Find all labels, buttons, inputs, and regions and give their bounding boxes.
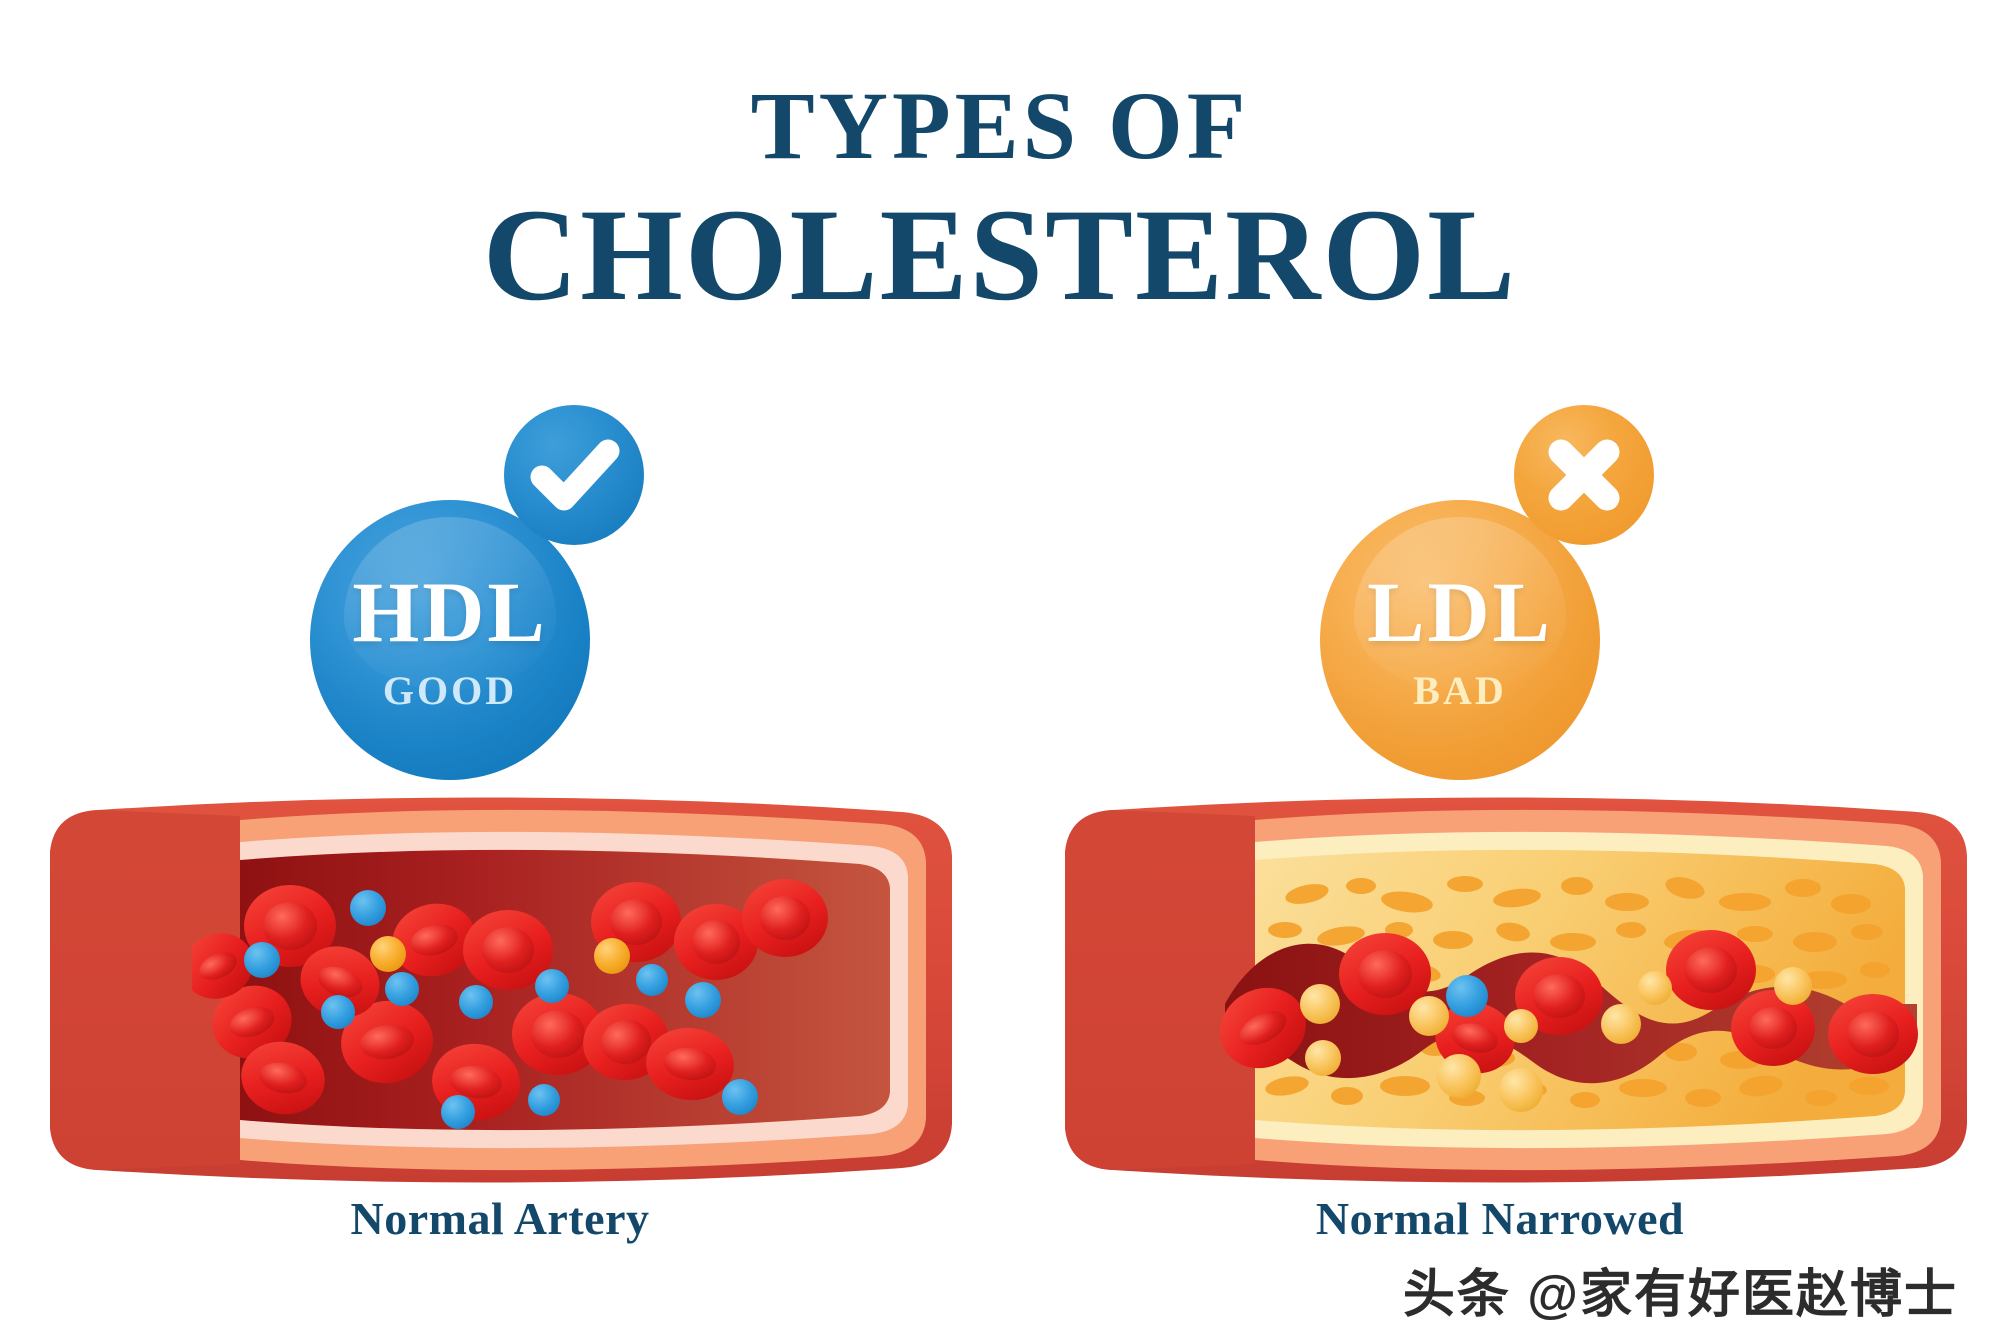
hdl-particle [244, 942, 280, 978]
check-icon [504, 405, 644, 545]
ldl-acronym: LDL [1367, 569, 1553, 655]
ldl-particle [1499, 1068, 1543, 1112]
ldl-particle [1601, 1004, 1641, 1044]
red-blood-cell [1666, 930, 1756, 1010]
ldl-particle [1774, 967, 1812, 1005]
hdl-particle [385, 972, 419, 1006]
ldl-particle [370, 936, 406, 972]
hdl-particle [528, 1084, 560, 1116]
hdl-particle [1446, 975, 1488, 1017]
ldl-particle [1437, 1054, 1481, 1098]
ldl-particle [594, 938, 630, 974]
ldl-particle [1300, 984, 1340, 1024]
title-line-2: CHOLESTEROL [0, 186, 2000, 325]
illustration-normal-artery [40, 790, 960, 1195]
hdl-particle [685, 982, 721, 1018]
hdl-particle [722, 1079, 758, 1115]
illustration-narrowed-artery [1055, 790, 1975, 1195]
hdl-particle [441, 1095, 475, 1129]
hdl-acronym: HDL [352, 569, 547, 655]
ldl-particle [1504, 1009, 1538, 1043]
normal-artery-svg [40, 790, 960, 1190]
watermark: 头条 @家有好医赵博士 [1403, 1252, 1958, 1327]
cross-icon [1514, 405, 1654, 545]
hdl-qualifier: GOOD [383, 671, 517, 711]
page-title: TYPES OF CHOLESTEROL [0, 78, 2000, 325]
ldl-qualifier: BAD [1413, 671, 1506, 711]
title-line-1: TYPES OF [0, 78, 2000, 174]
hdl-particle [459, 985, 493, 1019]
narrowed-artery-svg [1055, 790, 1975, 1190]
ldl-particle [1409, 996, 1449, 1036]
hdl-particle [321, 995, 355, 1029]
red-blood-cell [1828, 994, 1918, 1074]
caption-normal-artery: Normal Artery [0, 1192, 1000, 1245]
ldl-particle [1638, 971, 1672, 1005]
badge-hdl: HDL GOOD [290, 405, 650, 765]
infographic-canvas: TYPES OF CHOLESTEROL HDL GOOD LDL BAD [0, 0, 2000, 1333]
hdl-particle [535, 969, 569, 1003]
badge-ldl: LDL BAD [1300, 405, 1660, 765]
hdl-particle [636, 964, 668, 996]
ldl-particle [1305, 1040, 1341, 1076]
artery-cut-face [1065, 810, 1255, 1170]
red-blood-cell [742, 879, 828, 957]
caption-narrowed-artery: Normal Narrowed [1000, 1192, 2000, 1245]
hdl-particle [350, 890, 386, 926]
